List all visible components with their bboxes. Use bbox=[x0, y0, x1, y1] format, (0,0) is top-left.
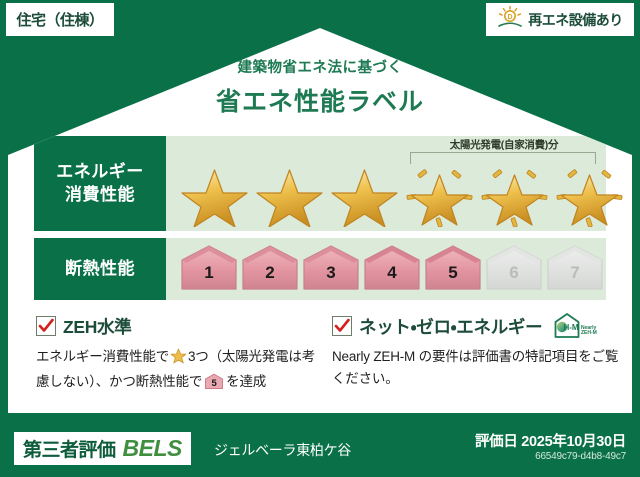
checkbox-net-zero-energy[interactable] bbox=[332, 316, 352, 336]
insulation-grade-number: 5 bbox=[424, 263, 482, 283]
solar-bracket-caption: 太陽光発電(自家消費)分 bbox=[404, 137, 604, 152]
svg-text:H-M: H-M bbox=[564, 323, 579, 332]
star-filled bbox=[328, 163, 401, 227]
insulation-grade-number: 3 bbox=[302, 263, 360, 283]
insulation-grade-number: 6 bbox=[485, 263, 543, 283]
insulation-grade-house: 1 bbox=[180, 244, 238, 294]
criteria-zeh-body: エネルギー消費性能で3つ（太陽光発電は考慮しない）、かつ断熱性能で5を達成 bbox=[36, 346, 328, 397]
insulation-performance-row: 断熱性能 bbox=[34, 238, 606, 300]
insulation-grade-number: 1 bbox=[180, 263, 238, 283]
zeh-m-logo-icon: H-M Nearly ZEH-M bbox=[553, 312, 599, 340]
insulation-grade-house: 4 bbox=[363, 244, 421, 294]
sun-renewable-icon: D bbox=[497, 5, 523, 35]
insulation-performance-body: 1 2 3 bbox=[166, 238, 606, 300]
criteria-zeh-text-3: を達成 bbox=[226, 374, 266, 389]
insulation-grade-number: 2 bbox=[241, 263, 299, 283]
criteria-zeh-standard: ZEH水準 エネルギー消費性能で3つ（太陽光発電は考慮しない）、かつ断熱性能で5… bbox=[36, 313, 328, 397]
bels-logo-text: BELS bbox=[123, 435, 182, 462]
footer-bar: 第三者評価 BELS ジェルベーラ東柏ケ谷 評価日 2025年10月30日 66… bbox=[0, 421, 640, 477]
insulation-grade-number: 7 bbox=[546, 263, 604, 283]
checkbox-zeh-standard[interactable] bbox=[36, 316, 56, 336]
criteria-net-zero-body: Nearly ZEH-M の要件は評価書の特記項目をご覧ください。 bbox=[332, 346, 624, 390]
dwelling-type-label: 住宅（住棟） bbox=[16, 9, 103, 30]
check-icon bbox=[38, 318, 54, 334]
check-icon bbox=[334, 318, 350, 334]
renewable-equipment-badge: D 再エネ設備あり bbox=[486, 3, 634, 36]
evaluation-date: 評価日 2025年10月30日 bbox=[475, 430, 626, 451]
energy-performance-label-block: エネルギー 消費性能 bbox=[34, 136, 166, 231]
criteria-header: ネット・ゼロ・エネルギー H-M Nearly ZEH-M bbox=[332, 313, 624, 339]
inline-house-icon: 5 bbox=[204, 373, 224, 397]
star-rating-strip bbox=[178, 163, 626, 227]
bels-badge: 第三者評価 BELS bbox=[14, 432, 191, 465]
criteria-net-zero-title: ネット・ゼロ・エネルギー bbox=[359, 314, 542, 339]
property-name: ジェルベーラ東柏ケ谷 bbox=[214, 440, 351, 460]
insulation-label: 断熱性能 bbox=[65, 258, 135, 281]
star-solar bbox=[478, 163, 551, 227]
evaluation-id: 66549c79-d4b8-49c7 bbox=[535, 451, 626, 462]
criteria-header: ZEH水準 bbox=[36, 313, 328, 339]
energy-performance-body: 太陽光発電(自家消費)分 bbox=[166, 136, 606, 231]
star-filled bbox=[178, 163, 251, 227]
inline-star-icon bbox=[170, 348, 187, 371]
criteria-zeh-title: ZEH水準 bbox=[63, 314, 132, 339]
criteria-net-zero-energy: ネット・ゼロ・エネルギー H-M Nearly ZEH-M bbox=[332, 313, 624, 390]
page-title: 省エネ性能ラベル bbox=[8, 82, 632, 118]
star-filled bbox=[253, 163, 326, 227]
svg-text:ZEH-M: ZEH-M bbox=[581, 330, 597, 336]
insulation-grade-house-inactive: 6 bbox=[485, 244, 543, 294]
label-card: 建築物省エネ法に基づく 省エネ性能ラベル エネルギー 消費性能 太陽光発電(自家… bbox=[8, 28, 632, 413]
insulation-grade-number: 4 bbox=[363, 263, 421, 283]
energy-label-line1: エネルギー bbox=[56, 161, 144, 184]
insulation-grade-house: 3 bbox=[302, 244, 360, 294]
bels-third-party-label: 第三者評価 bbox=[23, 435, 116, 462]
insulation-grade-house-inactive: 7 bbox=[546, 244, 604, 294]
svg-text:D: D bbox=[508, 14, 513, 21]
energy-label-line2: 消費性能 bbox=[65, 184, 135, 207]
insulation-grade-house: 2 bbox=[241, 244, 299, 294]
insulation-grade-strip: 1 2 3 bbox=[180, 244, 604, 294]
insulation-performance-label-block: 断熱性能 bbox=[34, 238, 166, 300]
star-solar bbox=[403, 163, 476, 227]
star-solar bbox=[553, 163, 626, 227]
energy-performance-row: エネルギー 消費性能 太陽光発電(自家消費)分 bbox=[34, 136, 606, 231]
dwelling-type-badge: 住宅（住棟） bbox=[6, 3, 114, 36]
criteria-zeh-text-1: エネルギー消費性能で bbox=[36, 349, 169, 364]
renewable-equipment-label: 再エネ設備あり bbox=[528, 10, 623, 30]
energy-performance-label: 住宅（住棟） D 再エネ設備あり 建築物省エネ法に基づく 省エネ性能ラベル bbox=[0, 0, 640, 477]
title-block: 建築物省エネ法に基づく 省エネ性能ラベル bbox=[8, 56, 632, 118]
title-subtitle: 建築物省エネ法に基づく bbox=[8, 56, 632, 77]
insulation-grade-house: 5 bbox=[424, 244, 482, 294]
